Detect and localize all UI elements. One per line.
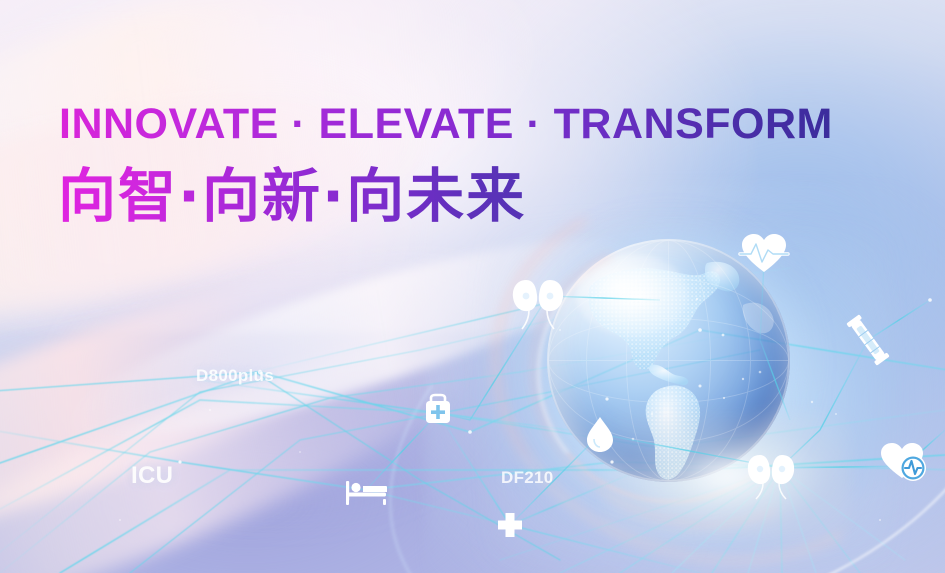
- headline-chinese: 向智·向新·向未来: [58, 166, 526, 227]
- heart-monitor-icon: [881, 443, 926, 481]
- headline-english: INNOVATE · ELEVATE · TRANSFORM: [59, 103, 833, 146]
- tag-df210: DF210: [501, 468, 554, 488]
- syringe-icon: [846, 314, 890, 365]
- tag-d800plus: D800plus: [196, 366, 274, 386]
- tag-icu: ICU: [131, 462, 173, 490]
- medical-bag-icon: [426, 395, 450, 423]
- heart-pulse-icon: [740, 234, 788, 272]
- hospital-bed-icon: [346, 481, 387, 505]
- kidneys-icon: [748, 455, 794, 499]
- hero-banner: D800plus ICU DF210 INNOVATE · ELEVATE · …: [0, 0, 945, 573]
- kidneys-icon: [513, 280, 563, 329]
- water-drop-icon: [587, 417, 613, 452]
